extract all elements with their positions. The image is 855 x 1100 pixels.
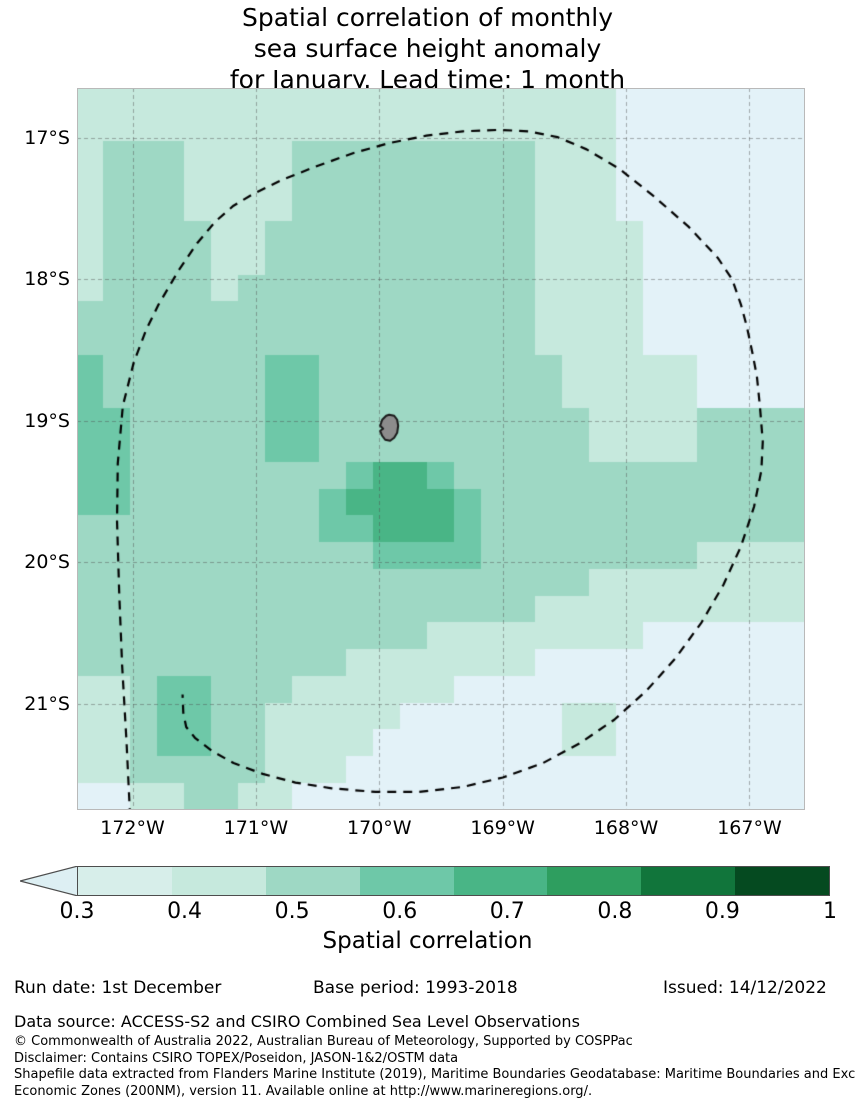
colorbar-tick-2: 0.5 — [247, 900, 337, 924]
eez-and-island-layer — [77, 88, 805, 810]
disclaimer-line: Disclaimer: Contains CSIRO TOPEX/Poseido… — [14, 1051, 852, 1068]
x-tick-4: 168°W — [571, 819, 681, 838]
fine-print: © Commonwealth of Australia 2022, Austra… — [14, 1034, 852, 1100]
colorbar-tick-7: 1 — [785, 900, 855, 924]
x-tick-0: 172°W — [78, 819, 188, 838]
x-tick-5: 167°W — [694, 819, 804, 838]
shapefile-line-1: Shapefile data extracted from Flanders M… — [14, 1067, 852, 1084]
y-tick-2: 19°S — [0, 412, 70, 431]
title-line-2: sea surface height anomaly — [0, 33, 855, 64]
colorbar-segment-5 — [547, 867, 641, 895]
y-tick-4: 21°S — [0, 695, 70, 714]
colorbar-label: Spatial correlation — [0, 928, 855, 954]
copyright-line: © Commonwealth of Australia 2022, Austra… — [14, 1034, 852, 1051]
data-source: Data source: ACCESS-S2 and CSIRO Combine… — [14, 1012, 580, 1031]
base-period: Base period: 1993-2018 — [313, 978, 518, 998]
chart-title: Spatial correlation of monthly sea surfa… — [0, 0, 855, 95]
colorbar-tick-6: 0.9 — [677, 900, 767, 924]
colorbar-segment-1 — [172, 867, 266, 895]
colorbar-tick-5: 0.8 — [570, 900, 660, 924]
colorbar: Spatial correlation 0.30.40.50.60.70.80.… — [0, 866, 855, 961]
colorbar-tick-0: 0.3 — [32, 900, 122, 924]
colorbar-tick-4: 0.7 — [462, 900, 552, 924]
y-tick-1: 18°S — [0, 270, 70, 289]
colorbar-segment-3 — [360, 867, 454, 895]
colorbar-gradient — [77, 866, 830, 896]
x-tick-2: 170°W — [324, 819, 434, 838]
colorbar-tick-1: 0.4 — [140, 900, 230, 924]
colorbar-segment-6 — [641, 867, 735, 895]
metadata-row: Run date: 1st December Base period: 1993… — [0, 978, 855, 1008]
colorbar-segment-4 — [454, 867, 548, 895]
issued-date: Issued: 14/12/2022 — [663, 978, 827, 998]
title-line-1: Spatial correlation of monthly — [0, 2, 855, 33]
x-axis-ticks: 172°W171°W170°W169°W168°W167°W — [0, 819, 855, 849]
x-tick-1: 171°W — [201, 819, 311, 838]
correlation-map — [77, 88, 805, 810]
colorbar-segment-7 — [735, 867, 829, 895]
y-tick-0: 17°S — [0, 129, 70, 148]
colorbar-tick-3: 0.6 — [355, 900, 445, 924]
y-tick-3: 20°S — [0, 553, 70, 572]
x-tick-3: 169°W — [448, 819, 558, 838]
run-date: Run date: 1st December — [14, 978, 221, 998]
colorbar-under-arrow — [20, 866, 78, 896]
shapefile-line-2: Economic Zones (200NM), version 11. Avai… — [14, 1084, 852, 1100]
colorbar-segment-0 — [78, 867, 172, 895]
colorbar-segment-2 — [266, 867, 360, 895]
